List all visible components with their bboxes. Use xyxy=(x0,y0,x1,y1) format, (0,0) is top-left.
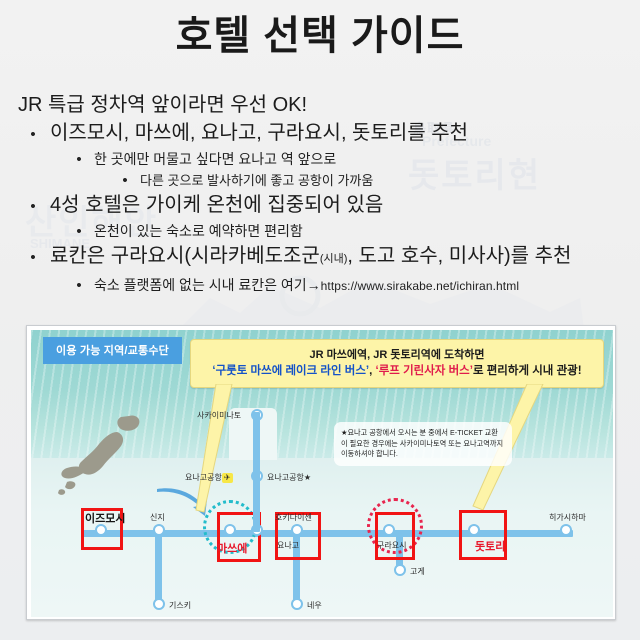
station-node-neu[interactable] xyxy=(291,598,303,610)
bullet-text-part-b: , 도고 호수, 미사사)를 추천 xyxy=(347,242,571,271)
bullet-text: 다른 곳으로 발사하기에 좋고 공항이 가까움 xyxy=(140,170,373,191)
japan-silhouette-icon xyxy=(57,410,167,505)
station-node-hokidaisen[interactable] xyxy=(291,524,303,536)
station-label-kisuki: 기스키 xyxy=(169,600,191,611)
bullet-text: 이즈모시, 마쓰에, 요나고, 구라요시, 돗토리를 추천 xyxy=(50,119,468,148)
body-content: JR 특급 정차역 앞이라면 우선 OK! • 이즈모시, 마쓰에, 요나고, … xyxy=(18,92,628,297)
bullet-marker: • xyxy=(26,127,40,142)
station-label-hokidaisen: 호키다이센 xyxy=(275,512,312,523)
bullet-level2-2: • 온천이 있는 숙소로 예약하면 편리함 xyxy=(18,220,628,242)
bullet-level2-1: • 한 곳에만 머물고 싶다면 요나고 역 앞으로 xyxy=(18,148,628,170)
airport-name: 요나고공항 xyxy=(267,473,304,482)
bullet-level1-1: • 이즈모시, 마쓰에, 요나고, 구라요시, 돗토리를 추천 xyxy=(18,119,628,148)
plane-icon: ✈ xyxy=(222,473,233,483)
transit-map-panel: 이용 가능 지역/교통수단 JR 마쓰에역, JR 돗토리역에 도착하면 ‘구룻… xyxy=(26,325,616,620)
station-label-yonago: 요나고 xyxy=(277,540,299,551)
airport-name: 요나고공항 xyxy=(185,473,222,482)
bullet-marker: • xyxy=(26,250,40,265)
slide-canvas: 鳥取県 Prefecture 돗토리현 산인해안 SHIMANE 호텔 선택 가… xyxy=(0,0,640,640)
station-label-izumoshi: 이즈모시 xyxy=(85,510,125,526)
callout-line2: ‘구룻토 마쓰에 레이크 라인 버스’, ‘루프 기린사자 버스’로 편리하게 … xyxy=(197,363,597,379)
station-node-higashihama[interactable] xyxy=(560,524,572,536)
station-label-neu: 네우 xyxy=(307,600,322,611)
bullet-text-inline-note: (시내) xyxy=(320,245,348,274)
bullet-text: 4성 호텔은 가이케 온천에 집중되어 있음 xyxy=(50,191,383,220)
bullet-marker: • xyxy=(26,199,40,214)
airport-label-plane: 요나고공항✈ xyxy=(185,472,233,483)
bullet-text: 숙소 플랫폼에 없는 시내 료칸은 여기 xyxy=(94,274,307,296)
rail-line-kisuki xyxy=(155,530,162,602)
star-icon: ★ xyxy=(304,473,311,482)
bus-name-red: ‘루프 기린사자 버스’ xyxy=(376,365,473,377)
callout-box: JR 마쓰에역, JR 돗토리역에 도착하면 ‘구룻토 마쓰에 레이크 라인 버… xyxy=(190,339,604,388)
highlight-box-kurayoshi xyxy=(375,512,415,560)
bullet-level1-3: • 료칸은 구라요시(시라카베도조군(시내), 도고 호수, 미사사)를 추천 xyxy=(18,242,628,274)
station-label-kurayoshi: 구라요시 xyxy=(377,540,406,551)
eticket-note-box: ★요나고 공항에서 오시는 분 중에서 E-TICKET 교환이 필요한 경우에… xyxy=(334,422,512,466)
station-label-shinji: 신지 xyxy=(150,512,165,523)
page-title: 호텔 선택 가이드 xyxy=(0,8,640,64)
station-label-sakaiminato: 사카이미나토 xyxy=(197,410,241,421)
bullet-level1-2: • 4성 호텔은 가이케 온천에 집중되어 있음 xyxy=(18,191,628,220)
bullet-marker: • xyxy=(72,152,86,167)
bullet-level2-3: • 숙소 플랫폼에 없는 시내 료칸은 여기 →https://www.sira… xyxy=(18,274,628,297)
bullet-marker: • xyxy=(72,278,86,293)
bus-name-blue: ‘구룻토 마쓰에 레이크 라인 버스’ xyxy=(212,365,369,377)
station-node-shinji[interactable] xyxy=(153,524,165,536)
callout-tail: 로 편리하게 시내 관광! xyxy=(473,365,582,377)
station-label-matsue: 마쓰에 xyxy=(217,540,247,556)
ryokan-list-link[interactable]: https://www.sirakabe.net/ichiran.html xyxy=(321,275,519,297)
bullet-level3-1: • 다른 곳으로 발사하기에 좋고 공항이 가까움 xyxy=(18,170,628,191)
station-node-kurayoshi[interactable] xyxy=(383,524,395,536)
station-node-matsue[interactable] xyxy=(224,524,236,536)
station-label-koge: 고게 xyxy=(410,566,425,577)
arrow-glyph: → xyxy=(307,274,321,296)
station-node-tottori[interactable] xyxy=(468,524,480,536)
airport-label-star: 요나고공항★ xyxy=(267,472,311,483)
bullet-marker: • xyxy=(118,173,132,188)
bullet-text: 한 곳에만 머물고 싶다면 요나고 역 앞으로 xyxy=(94,148,336,170)
station-label-tottori: 돗토리 xyxy=(475,538,505,554)
callout-line1: JR 마쓰에역, JR 돗토리역에 도착하면 xyxy=(197,347,597,363)
map-badge: 이용 가능 지역/교통수단 xyxy=(43,337,182,364)
station-node-koge[interactable] xyxy=(394,564,406,576)
body-heading: JR 특급 정차역 앞이라면 우선 OK! xyxy=(18,92,628,119)
bullet-text: 온천이 있는 숙소로 예약하면 편리함 xyxy=(94,220,303,242)
station-node-kisuki[interactable] xyxy=(153,598,165,610)
bullet-marker: • xyxy=(72,224,86,239)
station-label-higashihama: 히가시하마 xyxy=(549,512,586,523)
rail-line-sakaiminato-top xyxy=(253,412,260,532)
bullet-text-part-a: 료칸은 구라요시(시라카베도조군 xyxy=(50,242,320,271)
